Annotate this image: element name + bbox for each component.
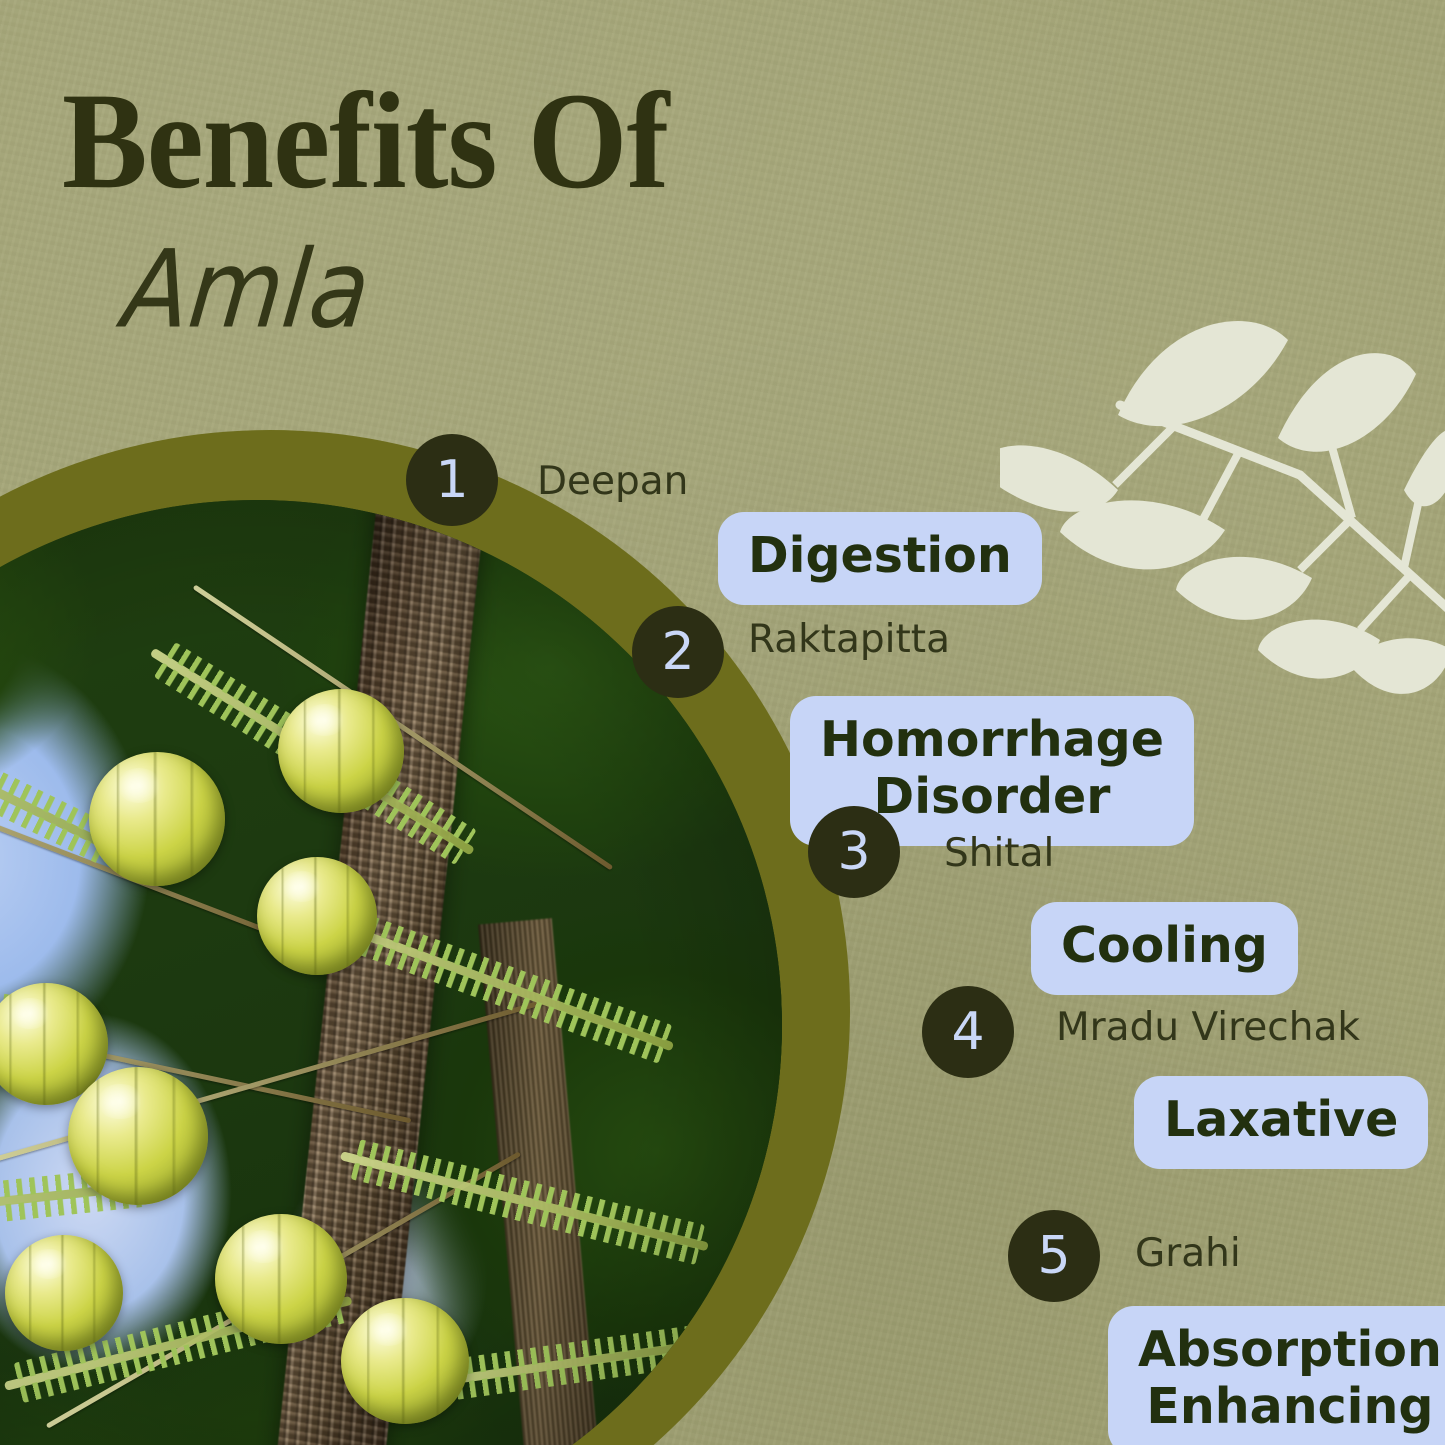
photo-amla-fruit xyxy=(5,1235,123,1351)
infographic-poster: Benefits Of Amla 1 Deepan Digestion xyxy=(0,0,1445,1445)
page-title: Benefits Of xyxy=(62,72,668,210)
benefit-number-badge-2: 2 xyxy=(632,606,724,698)
benefit-number-badge-5: 5 xyxy=(1008,1210,1100,1302)
photo-amla-fruit xyxy=(215,1214,347,1344)
benefit-sanskrit-4: Mradu Virechak xyxy=(1056,1008,1360,1047)
leaf-branch-icon xyxy=(1000,320,1445,720)
page-subtitle: Amla xyxy=(119,236,375,344)
photo-amla-fruit xyxy=(68,1067,208,1205)
benefit-english-pill-5: Absorption Enhancing xyxy=(1108,1306,1445,1445)
benefit-sanskrit-2: Raktapitta xyxy=(748,620,950,659)
benefit-sanskrit-3: Shital xyxy=(944,834,1054,873)
photo-amla-fruit xyxy=(89,752,225,886)
photo-amla-fruit xyxy=(257,857,377,975)
benefit-sanskrit-1: Deepan xyxy=(537,462,688,501)
benefit-english-pill-3: Cooling xyxy=(1031,902,1298,995)
benefit-english-pill-4: Laxative xyxy=(1134,1076,1428,1169)
photo-amla-fruit xyxy=(278,689,404,813)
benefit-english-pill-1: Digestion xyxy=(718,512,1042,605)
benefit-number-badge-4: 4 xyxy=(922,986,1014,1078)
benefit-number-badge-1: 1 xyxy=(406,434,498,526)
photo-amla-fruit xyxy=(341,1298,469,1424)
benefit-number-badge-3: 3 xyxy=(808,806,900,898)
benefit-sanskrit-5: Grahi xyxy=(1135,1234,1241,1273)
